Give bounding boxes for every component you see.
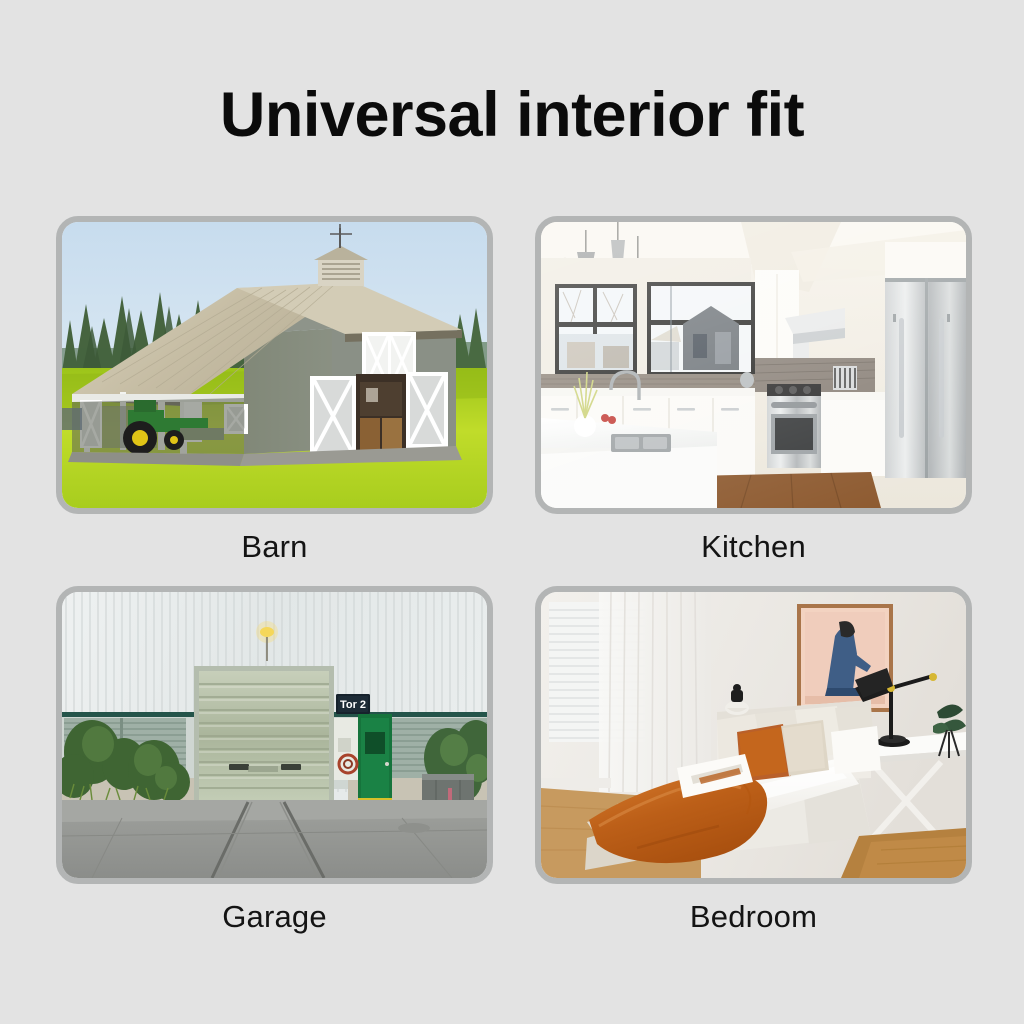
page-title: Universal interior fit [0,82,1024,148]
garage-photo: Tor 2 [62,592,487,878]
card-bedroom[interactable]: Bedroom [535,586,972,934]
image-grid: Barn [56,216,972,934]
barn-photo [62,222,487,508]
promo-page: Universal interior fit [0,0,1024,1024]
sign-tor-2: Tor 2 [336,694,370,714]
kitchen-photo [541,222,966,508]
card-barn[interactable]: Barn [56,216,493,564]
card-garage[interactable]: Tor 2 [56,586,493,934]
caption-bedroom: Bedroom [690,900,817,934]
image-frame-kitchen [535,216,972,514]
caption-kitchen: Kitchen [701,530,806,564]
card-kitchen[interactable]: Kitchen [535,216,972,564]
caption-barn: Barn [241,530,307,564]
image-frame-bedroom [535,586,972,884]
svg-text:Tor 2: Tor 2 [340,699,366,711]
bedroom-photo [541,592,966,878]
image-frame-garage: Tor 2 [56,586,493,884]
image-frame-barn [56,216,493,514]
caption-garage: Garage [222,900,327,934]
